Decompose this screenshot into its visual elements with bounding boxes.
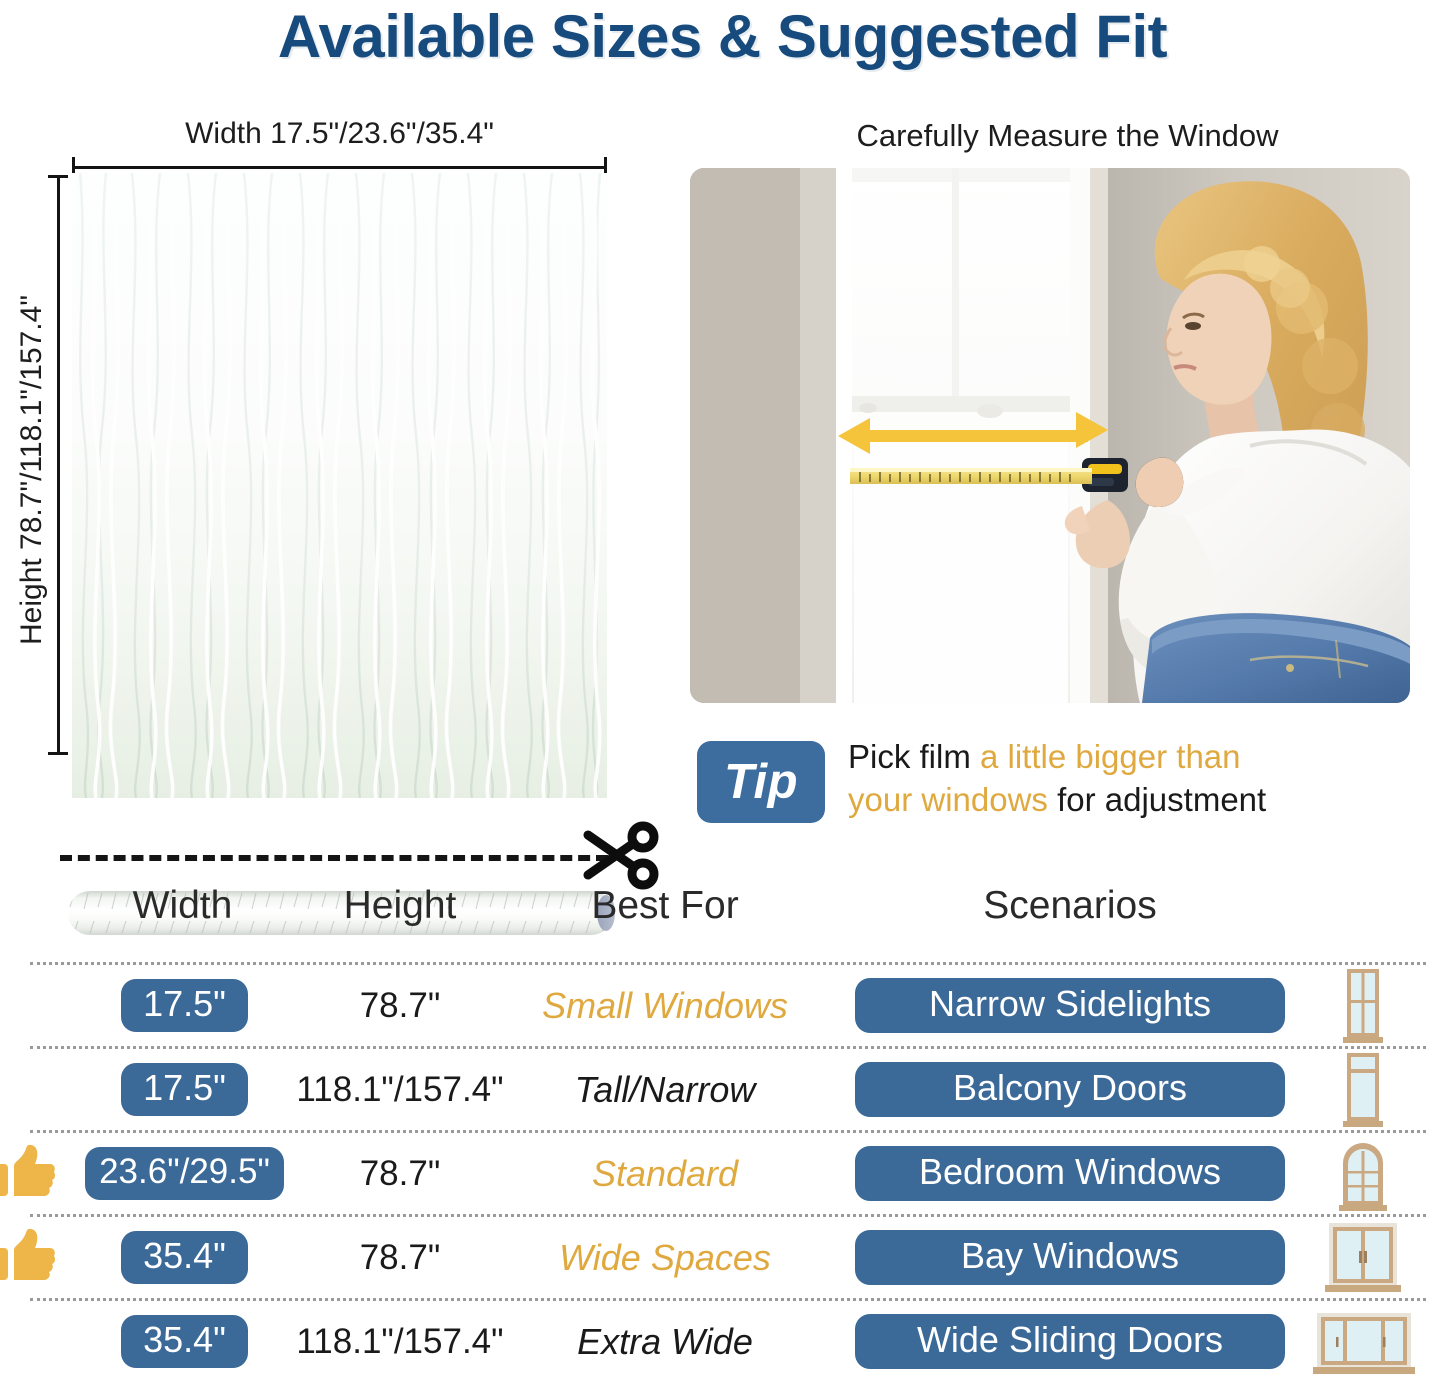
cell-best-for: Extra Wide (505, 1301, 825, 1378)
scenario-pill: Bay Windows (855, 1230, 1285, 1286)
cell-window-icon (1298, 965, 1428, 1046)
transom-window-icon (1303, 1051, 1423, 1129)
scenario-pill: Narrow Sidelights (855, 978, 1285, 1034)
recommend-slot (0, 965, 62, 1046)
recommend-slot (0, 1133, 62, 1214)
cell-height: 78.7" (295, 1217, 505, 1298)
cell-scenario: Wide Sliding Doors (845, 1301, 1295, 1378)
table-row: 23.6"/29.5" 78.7" Standard Bedroom Windo… (0, 1133, 1445, 1214)
arched-window-icon (1303, 1135, 1423, 1213)
narrow-sidelight-window-icon (1303, 967, 1423, 1045)
sliding-door-icon (1303, 1303, 1423, 1378)
cell-window-icon (1298, 1217, 1428, 1298)
photo-caption: Carefully Measure the Window (690, 118, 1445, 154)
height-dimension-label: Height 78.7"/118.1"/157.4" (15, 180, 49, 760)
width-pill: 35.4" (121, 1231, 248, 1285)
cell-width: 35.4" (62, 1217, 307, 1298)
dimension-bar-vertical (57, 175, 60, 755)
scenario-pill: Bedroom Windows (855, 1146, 1285, 1202)
cell-height: 78.7" (295, 965, 505, 1046)
cell-window-icon (1298, 1301, 1428, 1378)
cell-height: 78.7" (295, 1133, 505, 1214)
tip-line2-plain: for adjustment (1048, 781, 1266, 818)
cell-scenario: Bedroom Windows (845, 1133, 1295, 1214)
cell-scenario: Balcony Doors (845, 1049, 1295, 1130)
table-row: 17.5" 78.7" Small Windows Narrow Sidelig… (0, 965, 1445, 1046)
thumbs-up-icon (0, 1228, 56, 1288)
scenario-pill: Wide Sliding Doors (855, 1314, 1285, 1370)
window-film-sheet (72, 173, 607, 798)
cell-window-icon (1298, 1049, 1428, 1130)
dimension-bar (72, 166, 607, 169)
dimension-cap-bottom (48, 752, 68, 755)
tip-line1-highlight: a little bigger than (980, 738, 1241, 775)
cell-height: 118.1"/157.4" (295, 1049, 505, 1130)
cell-best-for: Wide Spaces (505, 1217, 825, 1298)
recommend-slot (0, 1049, 62, 1130)
cut-line (60, 855, 608, 861)
tip-text: Pick film a little bigger than your wind… (848, 736, 1445, 822)
width-pill: 23.6"/29.5" (85, 1147, 284, 1200)
measuring-window-photo (690, 168, 1410, 703)
film-size-diagram: Width 17.5"/23.6"/35.4" Height 78.7"/118… (0, 105, 690, 850)
cell-scenario: Narrow Sidelights (845, 965, 1295, 1046)
cell-width: 23.6"/29.5" (62, 1133, 307, 1214)
size-table: Width Height Best For Scenarios 17.5" 78… (0, 884, 1445, 1378)
table-header-row: Width Height Best For Scenarios (0, 884, 1445, 962)
tip-line2-highlight: your windows (848, 781, 1048, 818)
infographic-page: Available Sizes & Suggested Fit Width 17… (0, 0, 1445, 1378)
table-row: 35.4" 78.7" Wide Spaces Bay Windows (0, 1217, 1445, 1298)
cell-height: 118.1"/157.4" (295, 1301, 505, 1378)
tip-line1-plain: Pick film (848, 738, 980, 775)
width-pill: 17.5" (121, 1063, 248, 1117)
width-dimension-label: Width 17.5"/23.6"/35.4" (72, 117, 607, 151)
column-header-best-for: Best For (510, 884, 820, 928)
cell-width: 35.4" (62, 1301, 307, 1378)
tip-badge-label: Tip (724, 754, 798, 810)
column-header-scenarios: Scenarios (850, 884, 1290, 928)
thumbs-up-icon (0, 1144, 56, 1204)
scenario-pill: Balcony Doors (855, 1062, 1285, 1118)
page-title: Available Sizes & Suggested Fit (0, 2, 1445, 71)
table-row: 17.5" 118.1"/157.4" Tall/Narrow Balcony … (0, 1049, 1445, 1130)
cell-window-icon (1298, 1133, 1428, 1214)
recommend-slot (0, 1301, 62, 1378)
tip-badge: Tip (697, 741, 825, 823)
cell-width: 17.5" (62, 1049, 307, 1130)
recommend-slot (0, 1217, 62, 1298)
cell-scenario: Bay Windows (845, 1217, 1295, 1298)
cell-best-for: Small Windows (505, 965, 825, 1046)
cell-width: 17.5" (62, 965, 307, 1046)
width-pill: 17.5" (121, 979, 248, 1033)
column-header-width: Width (60, 884, 305, 928)
height-dimension-line (48, 175, 68, 755)
cell-best-for: Standard (505, 1133, 825, 1214)
cell-best-for: Tall/Narrow (505, 1049, 825, 1130)
column-header-height: Height (295, 884, 505, 928)
double-casement-window-icon (1303, 1219, 1423, 1297)
width-pill: 35.4" (121, 1315, 248, 1369)
table-row: 35.4" 118.1"/157.4" Extra Wide Wide Slid… (0, 1301, 1445, 1378)
film-texture (72, 173, 607, 798)
